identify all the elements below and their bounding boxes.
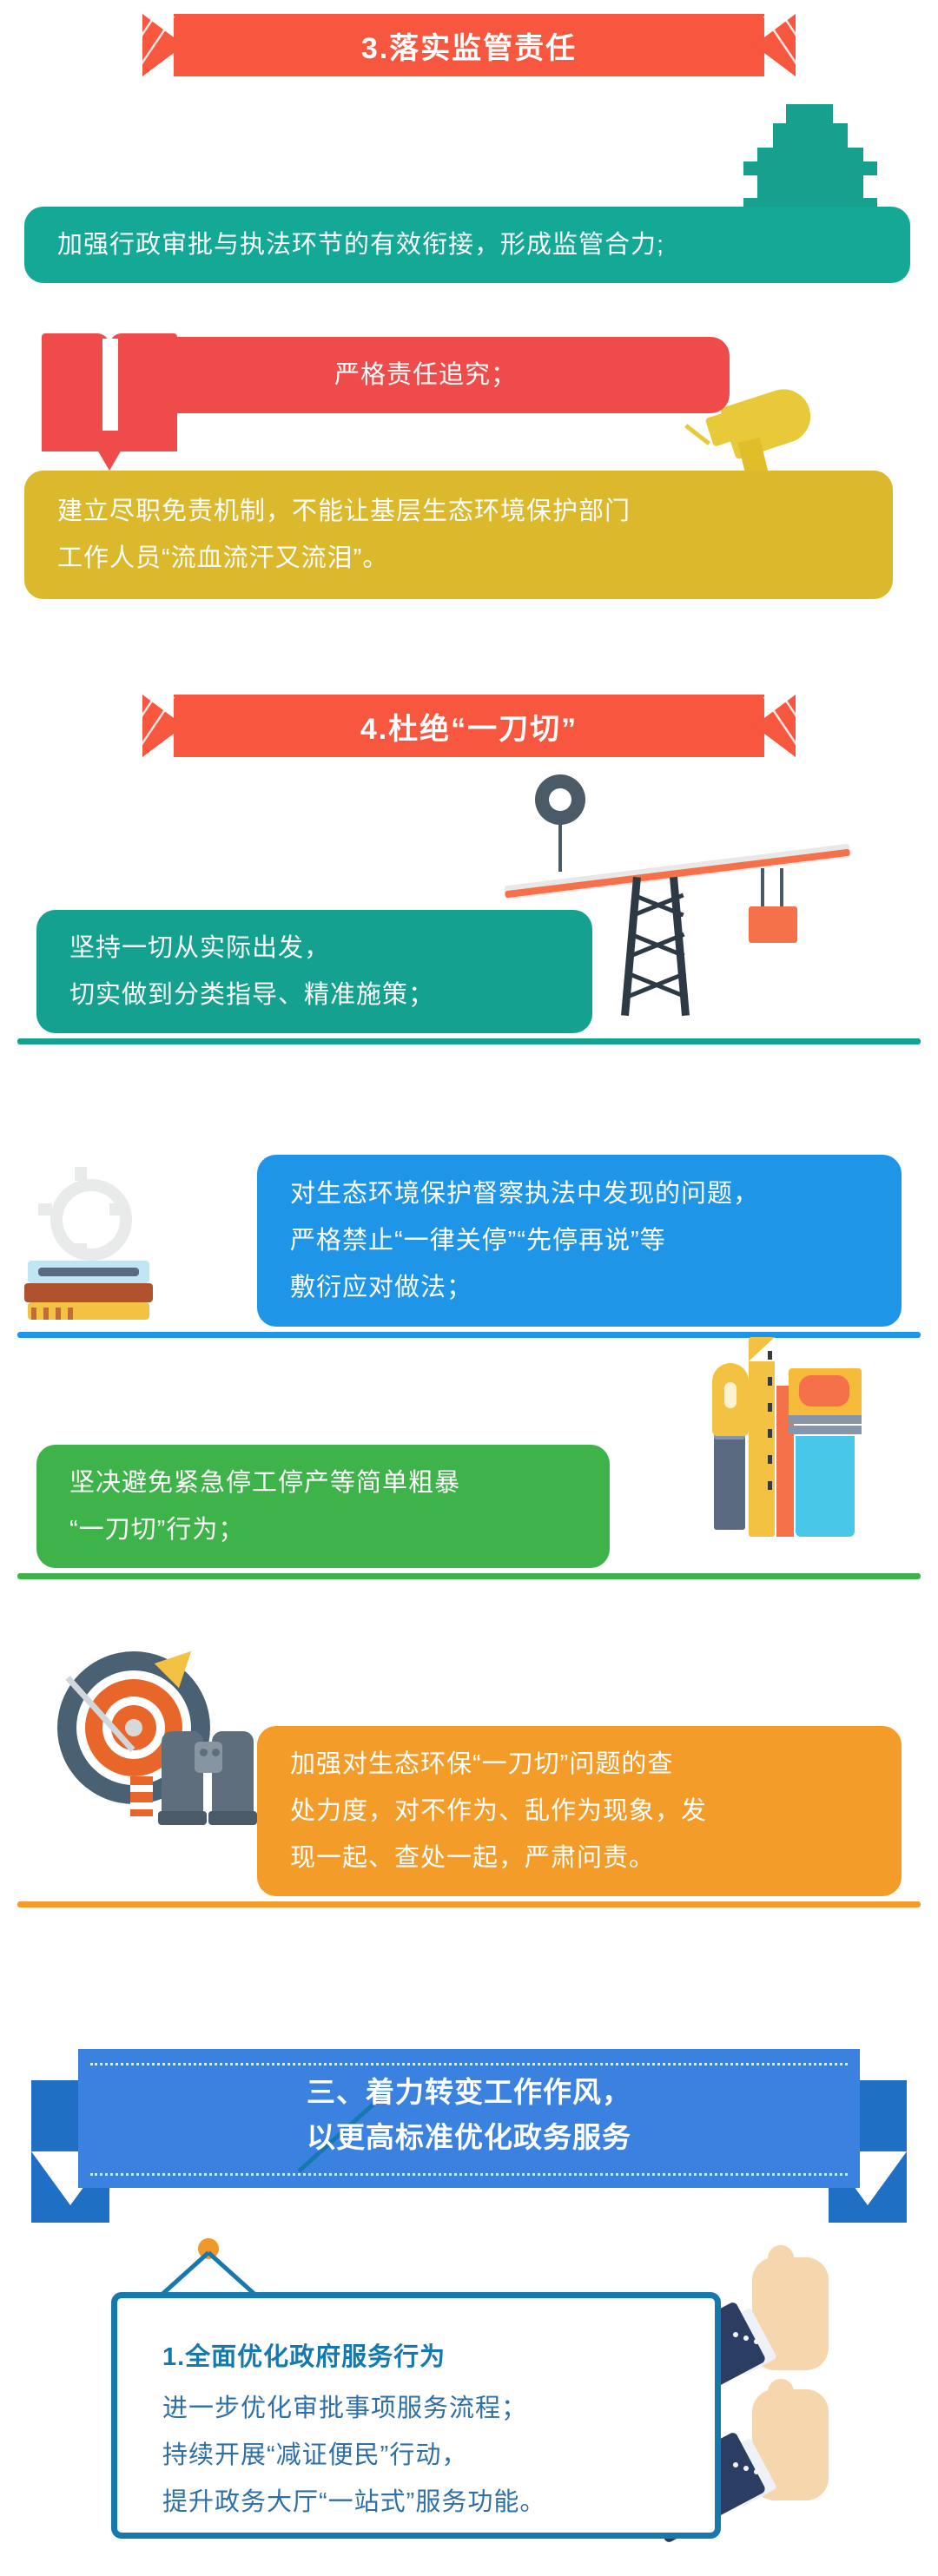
ribbon-dotted-line-bottom	[90, 2173, 848, 2176]
card-line: 工作人员“流血流汗又流泪”。	[57, 535, 893, 582]
ribbon-band: 三、着力转变工作作风， 以更高标准优化政务服务	[78, 2049, 860, 2188]
board-line: 提升政务大厅“一站式”服务功能。	[162, 2479, 715, 2526]
card-duty-exemption: 建立尽职免责机制，不能让基层生态环境保护部门 工作人员“流血流汗又流泪”。	[24, 471, 893, 599]
ribbon-section-three: 三、着力转变工作作风， 以更高标准优化政务服务	[31, 2049, 907, 2223]
card-line: 敷衍应对做法；	[290, 1264, 902, 1311]
board-title: 1.全面优化政府服务行为	[162, 2336, 715, 2373]
section-banner-3-title: 3.落实监管责任	[361, 24, 577, 67]
board-line: 持续开展“减证便民”行动，	[162, 2432, 715, 2479]
card-avoid-crude-measures: 坚决避免紧急停工停产等简单粗暴 “一刀切”行为；	[36, 1445, 610, 1568]
ribbon-dotted-line-top	[90, 2063, 848, 2065]
card-underbar	[17, 1038, 921, 1044]
card-line: 加强对生态环保“一刀切”问题的查	[290, 1741, 902, 1788]
card-line: 对生态环境保护督察执法中发现的问题，	[290, 1170, 902, 1217]
card-underbar	[17, 1573, 921, 1579]
card-reality-based: 坚持一切从实际出发， 切实做到分类指导、精准施策；	[36, 910, 592, 1033]
board-line: 进一步优化审批事项服务流程；	[162, 2385, 715, 2432]
card-line: 建立尽职免责机制，不能让基层生态环境保护部门	[57, 488, 893, 535]
section-banner-4: 4.杜绝“一刀切”	[122, 695, 816, 757]
section-banner-4-title: 4.杜绝“一刀切”	[360, 705, 578, 748]
card-no-blanket-shutdown: 对生态环境保护督察执法中发现的问题， 严格禁止“一律关停”“先停再说”等 敷衍应…	[257, 1155, 902, 1327]
card-investigate-accountability: 加强对生态环保“一刀切”问题的查 处力度，对不作为、乱作为现象，发 现一起、查处…	[257, 1726, 902, 1896]
card-line: 加强行政审批与执法环节的有效衔接，形成监管合力;	[57, 221, 910, 268]
card-line: 坚持一切从实际出发，	[69, 925, 592, 972]
card-line: 切实做到分类指导、精准施策；	[69, 972, 592, 1018]
card-underbar	[17, 1332, 921, 1338]
board-optimize-government-service: 1.全面优化政府服务行为 进一步优化审批事项服务流程； 持续开展“减证便民”行动…	[111, 2292, 721, 2539]
infographic-page: 3.落实监管责任 加强行政审批与执法环节的有效衔接，形成监管合力; 严格责任追究…	[0, 0, 938, 2576]
section-banner-3: 3.落实监管责任	[122, 14, 816, 76]
ribbon-title-line: 以更高标准优化政务服务	[78, 2115, 860, 2160]
ribbon-title-line: 三、着力转变工作作风，	[78, 2070, 860, 2115]
card-line: 严格禁止“一律关停”“先停再说”等	[290, 1217, 902, 1264]
card-strict-accountability: 严格责任追究；	[122, 337, 730, 413]
card-line: 坚决避免紧急停工停产等简单粗暴	[69, 1459, 610, 1506]
card-line: “一刀切”行为；	[69, 1506, 610, 1553]
card-line: 现一起、查处一起，严肃问责。	[290, 1835, 902, 1881]
card-enforcement-link: 加强行政审批与执法环节的有效衔接，形成监管合力;	[24, 207, 910, 283]
card-underbar	[17, 1901, 921, 1907]
card-line: 处力度，对不作为、乱作为现象，发	[290, 1788, 902, 1835]
card-line: 严格责任追究；	[334, 352, 517, 399]
